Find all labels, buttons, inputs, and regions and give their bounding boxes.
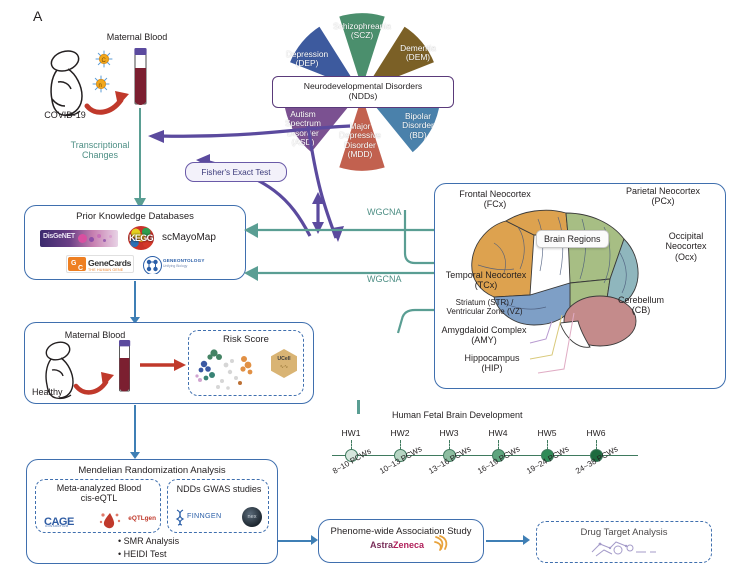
brain-label-striatum-vz: Striatum (STR) / Ventricular Zone (VZ) (427, 298, 542, 317)
flow-arrowhead-mr-to-phewas (311, 535, 318, 545)
covid-condition-label: COVID-19 (30, 110, 100, 120)
astrazeneca-logo-text-2: Zeneca (393, 540, 424, 550)
wheel-label-bd: Bipolar Disorder (BD) (392, 112, 444, 140)
disgenet-logo-text: DisGeNET (43, 233, 75, 240)
finngen-logo-text: FINNGEN (187, 511, 221, 520)
ndds-center-line2: (NDDs) (304, 92, 422, 102)
healthy-condition-label: Healthy (32, 387, 63, 397)
gene-ontology-logo-tagline: Unifying Biology (163, 264, 187, 268)
timeline-label-hw1: HW1 (331, 428, 371, 438)
wheel-label-scz: Schizophreania (SCZ) (324, 22, 400, 41)
blood-tube-icon (132, 46, 150, 108)
drug-target-molecule-icon (588, 538, 664, 560)
red-straight-arrow (140, 358, 186, 372)
timeline-connector (357, 400, 360, 414)
fetal-development-title: Human Fetal Brain Development (392, 410, 523, 420)
eqtlgen-logo-text: eQTLgen (128, 515, 156, 522)
mr-method-2: • HEIDI Test (118, 549, 167, 559)
phewas-title: Phenome-wide Association Study (319, 526, 483, 537)
nex-logo[interactable]: nex (242, 507, 262, 527)
genecards-logo-mark: GC (68, 257, 86, 271)
kegg-logo-text: KEGG (128, 233, 154, 243)
ucell-logo-mark: ∿∿ (271, 364, 297, 370)
fishers-exact-test-badge[interactable]: Fisher's Exact Test (185, 162, 287, 182)
panel-label: A (33, 8, 42, 24)
risk-score-title: Risk Score (189, 334, 303, 345)
flow-arrowhead-healthy-to-mr (130, 452, 140, 459)
brain-label-amygdala: Amygdaloid Complex (AMY) (428, 325, 540, 346)
genecards-logo[interactable]: GC GeneCards THE HUMAN GENE DATABASE (66, 255, 134, 273)
brain-label-parietal: Parietal Neocortex (PCx) (610, 186, 716, 207)
virus-icon: C (95, 50, 113, 68)
brain-label-frontal: Frontal Neocortex (FCx) (443, 189, 547, 210)
gene-ontology-logo-mark (143, 256, 162, 274)
timeline-label-hw3: HW3 (429, 428, 469, 438)
flow-arrowhead-phewas-to-drug (523, 535, 530, 545)
scmayomap-label: scMayoMap (162, 232, 216, 243)
red-flow-arrow (74, 370, 118, 396)
kegg-logo[interactable]: KEGG (128, 226, 154, 250)
wgcna-label-bottom: WGCNA (367, 274, 402, 284)
flow-line-phewas-to-drug (486, 540, 526, 542)
prior-knowledge-title: Prior Knowledge Databases (25, 211, 245, 222)
mendelian-title: Mendelian Randomization Analysis (27, 465, 277, 476)
maternal-blood-label-healthy: Maternal Blood (40, 330, 150, 340)
timeline-label-hw4: HW4 (478, 428, 518, 438)
gene-ontology-logo-text: GENEONTOLOGY (163, 258, 205, 263)
fisher-arrowhead-1 (148, 130, 164, 143)
disgenet-logo[interactable]: DisGeNET (40, 230, 118, 247)
flow-line-mr-to-phewas (278, 540, 314, 542)
ucell-logo-text: UCell (271, 356, 297, 362)
timeline-label-hw6: HW6 (576, 428, 616, 438)
svg-text:C: C (102, 58, 107, 64)
wgcna-label-top: WGCNA (367, 207, 402, 217)
maternal-blood-label-covid: Maternal Blood (82, 32, 192, 42)
genecards-logo-text: GeneCards (88, 258, 131, 268)
wgcna-arrowhead-bottom (244, 266, 258, 281)
brain-regions-center-label: Brain Regions (536, 230, 609, 248)
brain-label-cerebellum: Cerebellum (CB) (598, 295, 684, 316)
wgcna-arrowhead-top (244, 223, 258, 238)
transcriptional-changes-line1: Transcriptional (58, 140, 142, 150)
eqtlgen-logo[interactable]: eQTLgen (98, 510, 156, 530)
timeline-label-hw2: HW2 (380, 428, 420, 438)
astrazeneca-logo-mark (433, 534, 449, 552)
transcriptional-changes-line2: Changes (58, 150, 142, 160)
wheel-label-dep: Depression (DEP) (276, 50, 338, 69)
finngen-logo-mark (174, 508, 186, 526)
umap-cluster-plot (192, 345, 276, 393)
wheel-label-dem: Dementia (DEM) (390, 44, 446, 63)
genecards-logo-tagline: THE HUMAN GENE DATABASE (88, 268, 133, 273)
exposure-title: Meta-analyzed Blood cis-eQTL (36, 483, 162, 504)
drug-target-title: Drug Target Analysis (537, 527, 711, 538)
brain-label-temporal: Temporal Neocortex (TCx) (432, 270, 540, 291)
wgcna-arrows (240, 215, 440, 325)
mr-method-1: • SMR Analysis (118, 536, 179, 546)
transcriptional-changes-label: Transcriptional Changes (58, 140, 142, 161)
finngen-logo[interactable]: FINNGEN (174, 508, 240, 526)
blood-tube-icon (117, 338, 133, 394)
flow-arrow-healthy-to-mr (134, 405, 136, 455)
eqtlgen-logo-mark (98, 510, 128, 530)
astrazeneca-logo[interactable]: AstraZeneca (370, 540, 424, 550)
outcome-title: NDDs GWAS studies (168, 484, 270, 494)
ndds-center-label: Neurodevelopmental Disorders (NDDs) (272, 76, 454, 108)
astrazeneca-logo-text-1: Astra (370, 540, 393, 550)
brain-label-hippocampus: Hippocampus (HIP) (444, 353, 540, 374)
timeline-label-hw5: HW5 (527, 428, 567, 438)
cage-logo[interactable]: CAGE CONSORTIUM (44, 512, 86, 530)
gene-ontology-logo[interactable]: GENEONTOLOGY Unifying Biology (143, 255, 217, 274)
brain-label-occipital: Occipital Neocortex (Ocx) (648, 231, 724, 262)
nex-logo-text: nex (242, 514, 262, 520)
flow-arrow-db-to-healthy (134, 281, 136, 319)
